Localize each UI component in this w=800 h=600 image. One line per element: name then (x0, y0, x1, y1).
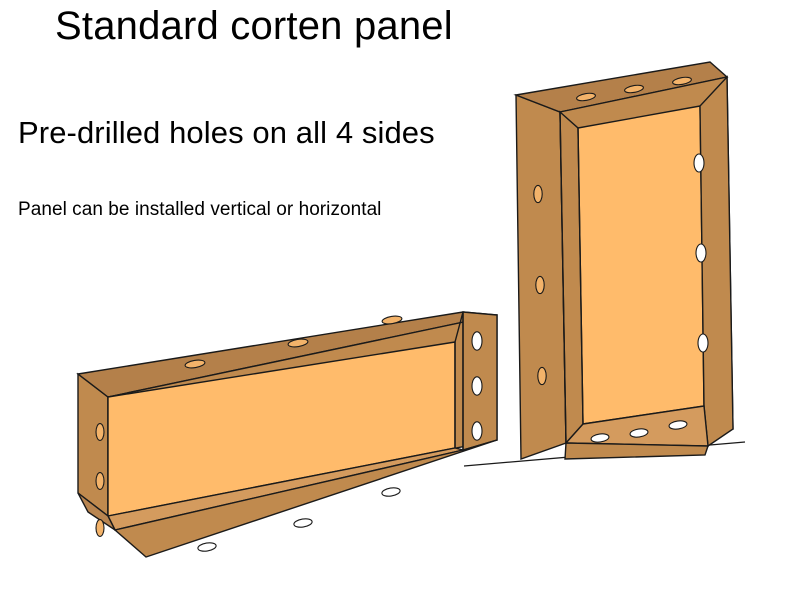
vertical-panel-inner-face (578, 106, 704, 424)
slide-canvas: Standard corten panel Pre-drilled holes … (0, 0, 800, 600)
horizontal-panel (78, 312, 497, 557)
vertical-panel (516, 62, 733, 459)
horizontal-panel-left-face (78, 374, 108, 516)
panel-illustration (0, 0, 800, 600)
vertical-panel-bottom-face (565, 443, 708, 459)
vertical-panel-right-face (700, 77, 733, 446)
horizontal-panel-right-holes (472, 332, 482, 440)
